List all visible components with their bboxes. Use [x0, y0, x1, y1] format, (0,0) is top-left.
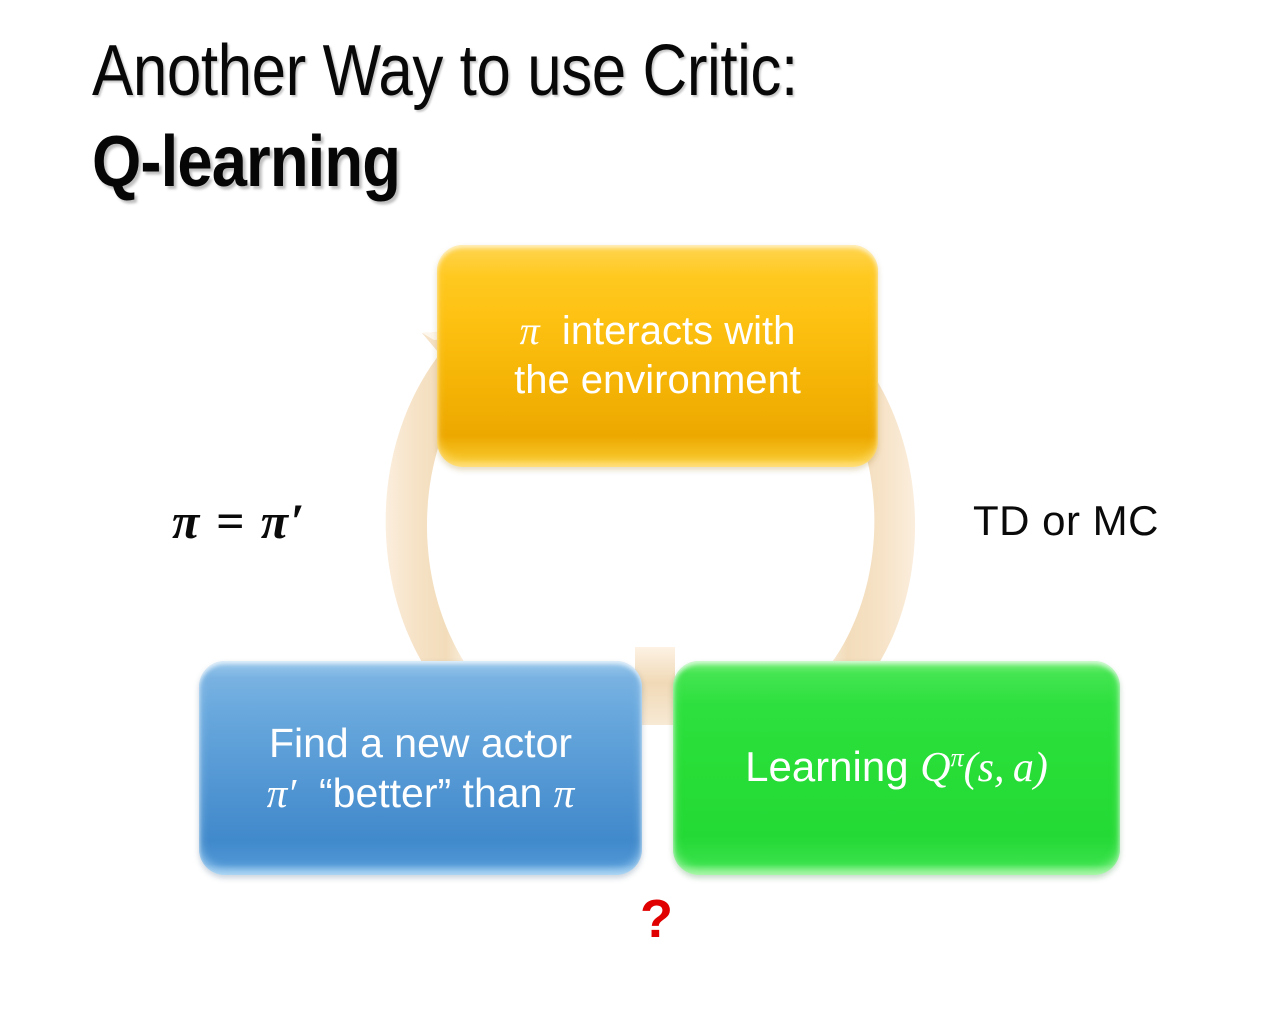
node-new-actor-line1-text: Find a new actor [269, 720, 572, 766]
pi-prime-symbol: π′ [267, 770, 297, 816]
node-environment-label: π interacts with the environment [437, 307, 878, 405]
edge-label-td-or-mc: TD or MC [973, 497, 1159, 545]
pi-symbol: π [520, 308, 540, 353]
title-line-1: Another Way to use Critic: [92, 34, 1038, 109]
node-environment-line2-text: the environment [514, 358, 801, 402]
page-title: Another Way to use Critic: Q-learning [92, 34, 1192, 202]
node-new-actor-line2-text: “better” than [308, 770, 554, 816]
question-mark-annotation: ? [640, 888, 673, 950]
node-environment[interactable]: π interacts with the environment [437, 245, 878, 467]
q-symbol: Q [920, 745, 950, 791]
slide-canvas: Another Way to use Critic: Q-learning [0, 0, 1274, 1018]
q-arguments: (s, a) [964, 745, 1048, 791]
title-line-2: Q-learning [92, 123, 1060, 202]
node-environment-line1-text: interacts with [551, 309, 796, 353]
node-new-actor[interactable]: Find a new actor π′ “better” than π [199, 661, 642, 875]
edge-label-pi-equals-pi-prime: π = π′ [172, 492, 306, 550]
node-learning-q[interactable]: Learning Qπ(s, a) [673, 661, 1120, 875]
edge-label-pi-equals-text: π = π′ [172, 493, 306, 549]
node-new-actor-label: Find a new actor π′ “better” than π [199, 718, 642, 818]
node-learning-q-text: Learning [745, 743, 908, 790]
node-learning-q-label: Learning Qπ(s, a) [673, 741, 1120, 794]
q-exponent-pi: π [951, 743, 964, 772]
pi-symbol-2: π [554, 770, 575, 816]
